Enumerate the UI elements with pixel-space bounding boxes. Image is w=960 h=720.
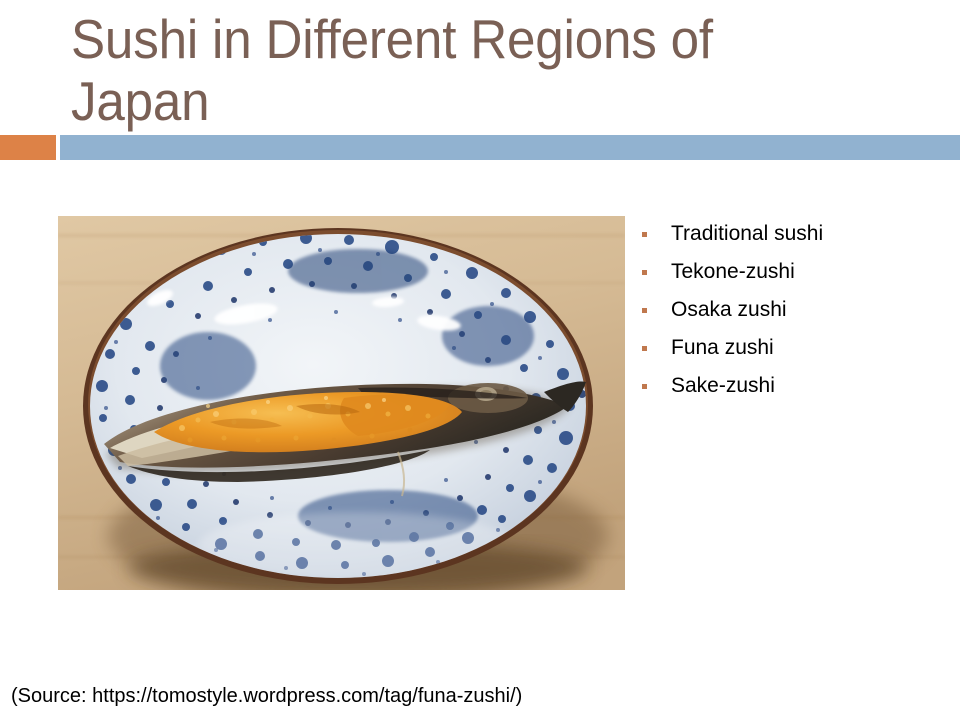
list-item: Traditional sushi (636, 221, 936, 259)
page-title: Sushi in Different Regions of Japan (71, 8, 815, 132)
bullet-marker-icon (642, 346, 647, 351)
divider-bar-blue (60, 135, 960, 160)
list-item: Tekone-zushi (636, 259, 936, 297)
bullet-list: Traditional sushi Tekone-zushi Osaka zus… (636, 221, 936, 411)
bullet-marker-icon (642, 308, 647, 313)
list-item-label: Funa zushi (671, 335, 774, 361)
list-item: Osaka zushi (636, 297, 936, 335)
list-item-label: Sake-zushi (671, 373, 775, 399)
list-item: Funa zushi (636, 335, 936, 373)
funa-zushi-photo (58, 216, 625, 590)
list-item: Sake-zushi (636, 373, 936, 411)
presentation-slide: Sushi in Different Regions of Japan (0, 0, 960, 720)
accent-bar-orange (0, 135, 56, 160)
bullet-marker-icon (642, 232, 647, 237)
list-item-label: Tekone-zushi (671, 259, 795, 285)
list-item-label: Osaka zushi (671, 297, 787, 323)
bullet-marker-icon (642, 384, 647, 389)
photo-graphic (58, 216, 625, 590)
bullet-marker-icon (642, 270, 647, 275)
source-caption: (Source: https://tomostyle.wordpress.com… (11, 684, 522, 708)
list-item-label: Traditional sushi (671, 221, 823, 247)
